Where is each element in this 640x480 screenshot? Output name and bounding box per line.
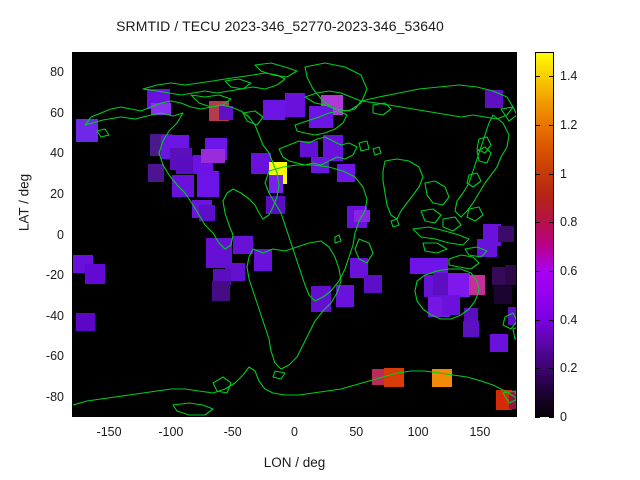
colorbar-tick-mark [535,417,540,418]
colorbar-tick-mark [535,368,540,369]
heatmap-cell [384,368,404,387]
heatmap-cell [498,226,514,242]
heatmap-cell [336,285,354,307]
colorbar-tick-mark [535,125,540,126]
heatmap-cell [505,265,517,285]
figure-root: SRMTID / TECU 2023-346_52770-2023-346_53… [0,0,640,480]
heatmap-cell [269,175,283,193]
heatmap-cell [508,307,517,325]
y-tick-label: -60 [24,350,64,362]
x-axis-label: LON / deg [72,455,517,470]
colorbar-tick-mark [549,174,554,175]
colorbar-tick-label: 0.6 [560,265,577,277]
colorbar-tick-mark [535,320,540,321]
heatmap-cell [285,93,305,117]
heatmap-cell [509,391,517,409]
y-tick-label: -20 [24,269,64,281]
colorbar-tick-mark [549,320,554,321]
heatmap-cell [448,273,470,297]
x-tick-label: 100 [394,426,442,438]
heatmap-cell [311,286,331,312]
y-tick-label: -40 [24,310,64,322]
y-tick-label: 80 [24,66,64,78]
heatmap-cell [85,264,105,284]
y-tick-label: -80 [24,391,64,403]
colorbar-tick-mark [549,125,554,126]
colorbar-tick-label: 0.8 [560,216,577,228]
heatmap-cell [309,106,333,128]
heatmap-cell [485,90,503,108]
heatmap-cell [477,239,497,257]
colorbar-tick-mark [549,417,554,418]
colorbar [535,52,554,417]
x-tick-label: 50 [332,426,380,438]
heatmap-cell [199,205,215,221]
heatmap-cell [251,153,271,174]
heatmap-cell [300,141,318,157]
colorbar-tick-label: 1.2 [560,119,577,131]
x-tick-label: -50 [209,426,257,438]
colorbar-tick-label: 1.4 [560,70,577,82]
heatmap-cell [490,334,508,352]
heatmap-cell [254,249,272,271]
heatmap-cell [172,175,194,197]
y-tick-label: 60 [24,107,64,119]
heatmap-cell [201,149,225,163]
heatmap-cell [463,321,479,337]
y-tick-label: 20 [24,188,64,200]
heatmap-cell [354,210,370,222]
colorbar-tick-mark [535,271,540,272]
colorbar-tick-mark [549,368,554,369]
heatmap-cell [219,106,233,120]
heatmap-cell [410,258,448,274]
heatmap-cell [148,164,164,182]
colorbar-tick-mark [549,76,554,77]
heatmap-cell [151,103,171,115]
x-tick-label: -150 [85,426,133,438]
heatmap-cell [464,308,478,322]
colorbar-tick-mark [549,222,554,223]
heatmap-cell [469,275,485,295]
colorbar-tick-mark [535,222,540,223]
heatmap-cell [212,281,230,301]
heatmap-cell [494,286,512,304]
page-title: SRMTID / TECU 2023-346_52770-2023-346_53… [0,18,560,34]
x-tick-label: 0 [271,426,319,438]
heatmap-cell [263,100,285,120]
heatmap-cells-layer [73,53,517,417]
y-tick-label: 40 [24,147,64,159]
heatmap-cell [516,291,517,309]
x-tick-label: 150 [456,426,504,438]
heatmap-cell [233,236,253,254]
heatmap-cell [337,164,355,182]
heatmap-cell [432,369,452,387]
y-tick-label: 0 [24,229,64,241]
heatmap-cell [76,313,95,331]
colorbar-tick-mark [535,174,540,175]
colorbar-tick-label: 0.2 [560,362,577,374]
heatmap-cell [364,275,382,293]
heatmap-cell [311,157,329,173]
colorbar-tick-mark [535,76,540,77]
heatmap-cell [442,295,460,315]
colorbar-tick-label: 0.4 [560,314,577,326]
colorbar-tick-mark [549,271,554,272]
colorbar-tick-label: 1 [560,168,567,180]
colorbar-tick-label: 0 [560,411,567,423]
heatmap-cell [76,119,98,142]
map-plot-area[interactable] [72,52,517,417]
x-tick-label: -100 [147,426,195,438]
heatmap-cell [197,171,219,197]
heatmap-cell [266,196,285,214]
